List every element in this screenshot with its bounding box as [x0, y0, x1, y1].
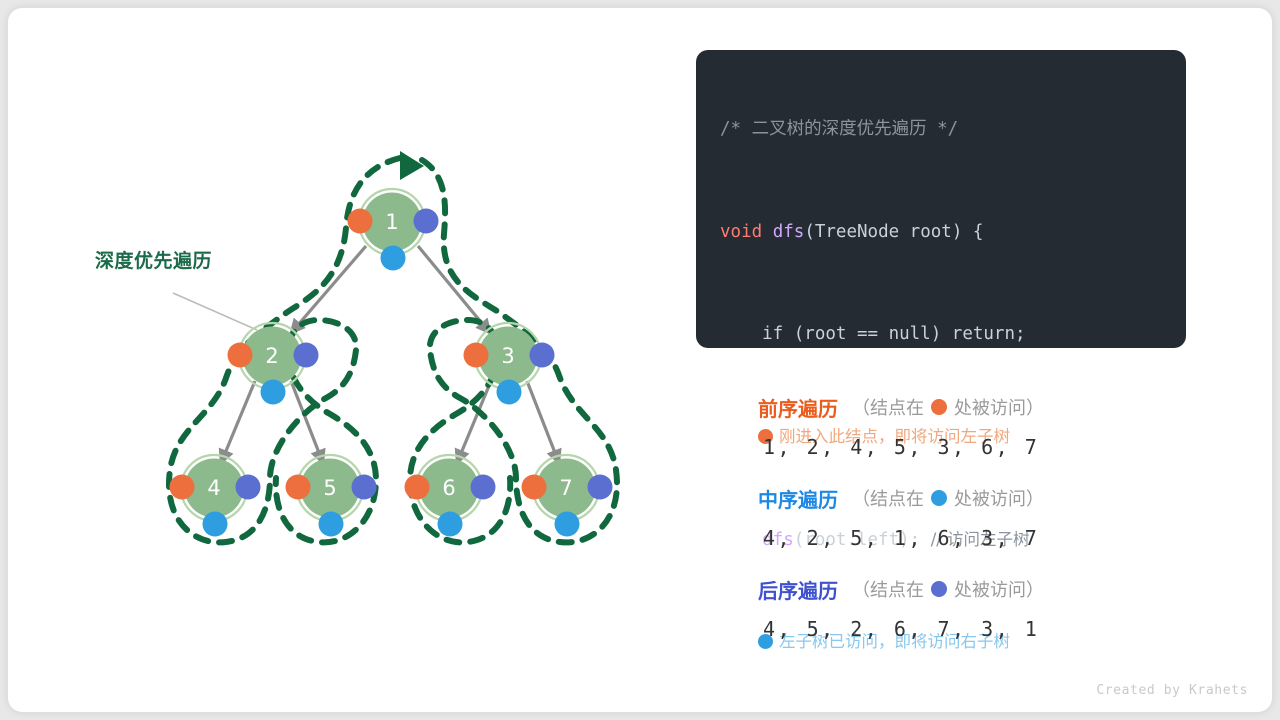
traversal-group-inorder: 中序遍历 （结点在 处被访问） 4, 2, 5, 1, 6, 3, 7 — [758, 481, 1188, 562]
node-5-post-dot — [352, 475, 377, 500]
preorder-note: （结点在 处被访问） — [852, 394, 1044, 420]
postorder-legend-dot-icon — [931, 581, 947, 597]
code-keyword-void: void — [720, 222, 762, 242]
tree-node-2[interactable]: 2 — [228, 323, 319, 405]
code-sig-rest: (TreeNode root) { — [804, 222, 983, 242]
node-6-label: 6 — [442, 476, 455, 500]
node-2-pre-dot — [228, 343, 253, 368]
node-5-label: 5 — [323, 476, 336, 500]
code-fn-dfs: dfs — [762, 222, 804, 242]
inorder-title: 中序遍历 — [758, 484, 838, 513]
node-7-label: 7 — [559, 476, 572, 500]
inorder-legend-dot-icon — [931, 490, 947, 506]
traversal-legend: 前序遍历 （结点在 处被访问） 1, 2, 4, 5, 3, 6, 7 中序遍历… — [758, 390, 1188, 663]
inorder-sequence: 4, 2, 5, 1, 6, 3, 7 — [758, 515, 1188, 562]
tree-node-3[interactable]: 3 — [464, 323, 555, 405]
edge-2-4 — [221, 381, 255, 463]
code-line-signature: void dfs(TreeNode root) { — [720, 220, 1162, 246]
inorder-heading: 中序遍历 （结点在 处被访问） — [758, 481, 1188, 515]
tree-node-1[interactable]: 1 — [348, 189, 439, 271]
node-6-in-dot — [438, 512, 463, 537]
tree-node-6[interactable]: 6 — [405, 455, 496, 537]
binary-tree-diagram: 1 2 3 4 — [8, 8, 688, 608]
node-4-pre-dot — [170, 475, 195, 500]
tree-node-7[interactable]: 7 — [522, 455, 613, 537]
node-7-pre-dot — [522, 475, 547, 500]
preorder-legend-dot-icon — [931, 399, 947, 415]
node-4-label: 4 — [207, 476, 220, 500]
node-6-post-dot — [471, 475, 496, 500]
inorder-note: （结点在 处被访问） — [852, 485, 1044, 511]
preorder-title: 前序遍历 — [758, 393, 838, 422]
node-7-post-dot — [588, 475, 613, 500]
node-3-post-dot — [530, 343, 555, 368]
node-4-in-dot — [203, 512, 228, 537]
code-line-nullcheck: if (root == null) return; — [720, 322, 1162, 348]
preorder-heading: 前序遍历 （结点在 处被访问） — [758, 390, 1188, 424]
node-1-post-dot — [414, 209, 439, 234]
postorder-note-prefix: （结点在 — [852, 576, 924, 602]
preorder-sequence: 1, 2, 4, 5, 3, 6, 7 — [758, 424, 1188, 471]
code-snippet-panel: /* 二叉树的深度优先遍历 */ void dfs(TreeNode root)… — [696, 50, 1186, 348]
traversal-group-preorder: 前序遍历 （结点在 处被访问） 1, 2, 4, 5, 3, 6, 7 — [758, 390, 1188, 471]
credit-text: Created by Krahets — [1096, 683, 1248, 698]
node-1-pre-dot — [348, 209, 373, 234]
postorder-title: 后序遍历 — [758, 575, 838, 604]
inorder-note-prefix: （结点在 — [852, 485, 924, 511]
postorder-note: （结点在 处被访问） — [852, 576, 1044, 602]
node-3-pre-dot — [464, 343, 489, 368]
node-1-in-dot — [381, 246, 406, 271]
traversal-group-postorder: 后序遍历 （结点在 处被访问） 4, 5, 2, 6, 7, 3, 1 — [758, 572, 1188, 653]
node-4-post-dot — [236, 475, 261, 500]
diagram-card: 1 2 3 4 — [8, 8, 1272, 712]
node-3-label: 3 — [501, 344, 514, 368]
preorder-note-prefix: （结点在 — [852, 394, 924, 420]
node-5-pre-dot — [286, 475, 311, 500]
inorder-note-suffix: 处被访问） — [954, 485, 1044, 511]
node-7-in-dot — [555, 512, 580, 537]
postorder-note-suffix: 处被访问） — [954, 576, 1044, 602]
node-6-pre-dot — [405, 475, 430, 500]
node-1-label: 1 — [385, 210, 398, 234]
edge-3-7 — [527, 381, 559, 463]
postorder-sequence: 4, 5, 2, 6, 7, 3, 1 — [758, 606, 1188, 653]
postorder-heading: 后序遍历 （结点在 处被访问） — [758, 572, 1188, 606]
node-5-in-dot — [319, 512, 344, 537]
preorder-note-suffix: 处被访问） — [954, 394, 1044, 420]
code-line-comment-title: /* 二叉树的深度优先遍历 */ — [720, 117, 1162, 143]
node-2-in-dot — [261, 380, 286, 405]
dfs-annotation-label: 深度优先遍历 — [95, 246, 212, 273]
annotation-pointer — [173, 293, 257, 330]
node-3-in-dot — [497, 380, 522, 405]
edge-3-6 — [457, 381, 491, 463]
play-triangle-icon — [400, 151, 424, 180]
node-2-post-dot — [294, 343, 319, 368]
node-2-label: 2 — [265, 344, 278, 368]
